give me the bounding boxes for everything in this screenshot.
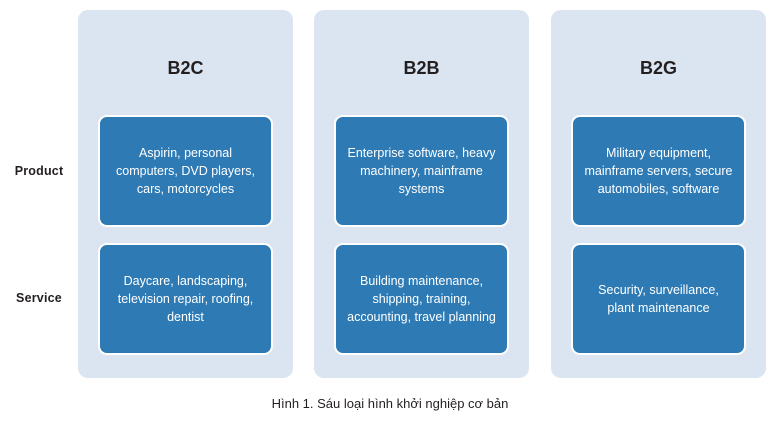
card-b2c-product: Aspirin, personal computers, DVD players… (98, 115, 273, 227)
card-b2g-product-text: Military equipment, mainframe servers, s… (583, 144, 734, 198)
card-b2c-product-text: Aspirin, personal computers, DVD players… (110, 144, 261, 198)
card-b2g-service: Security, surveillance, plant maintenanc… (571, 243, 746, 355)
card-b2b-product-text: Enterprise software, heavy machinery, ma… (346, 144, 497, 198)
column-title-b2b: B2B (314, 58, 529, 79)
column-title-b2g: B2G (551, 58, 766, 79)
column-b2c: B2C Aspirin, personal computers, DVD pla… (78, 10, 293, 378)
figure-caption: Hình 1. Sáu loại hình khởi nghiệp cơ bản (0, 396, 780, 411)
card-b2b-service: Building maintenance, shipping, training… (334, 243, 509, 355)
business-type-matrix-diagram: Product Service B2C Aspirin, personal co… (0, 0, 780, 390)
card-b2g-product: Military equipment, mainframe servers, s… (571, 115, 746, 227)
column-b2b: B2B Enterprise software, heavy machinery… (314, 10, 529, 378)
row-label-product: Product (0, 164, 78, 178)
column-b2g: B2G Military equipment, mainframe server… (551, 10, 766, 378)
row-label-service: Service (0, 291, 78, 305)
card-b2b-service-text: Building maintenance, shipping, training… (346, 272, 497, 326)
column-title-b2c: B2C (78, 58, 293, 79)
card-b2g-service-text: Security, surveillance, plant maintenanc… (583, 281, 734, 317)
card-b2b-product: Enterprise software, heavy machinery, ma… (334, 115, 509, 227)
card-b2c-service-text: Daycare, landscaping, television repair,… (110, 272, 261, 326)
card-b2c-service: Daycare, landscaping, television repair,… (98, 243, 273, 355)
